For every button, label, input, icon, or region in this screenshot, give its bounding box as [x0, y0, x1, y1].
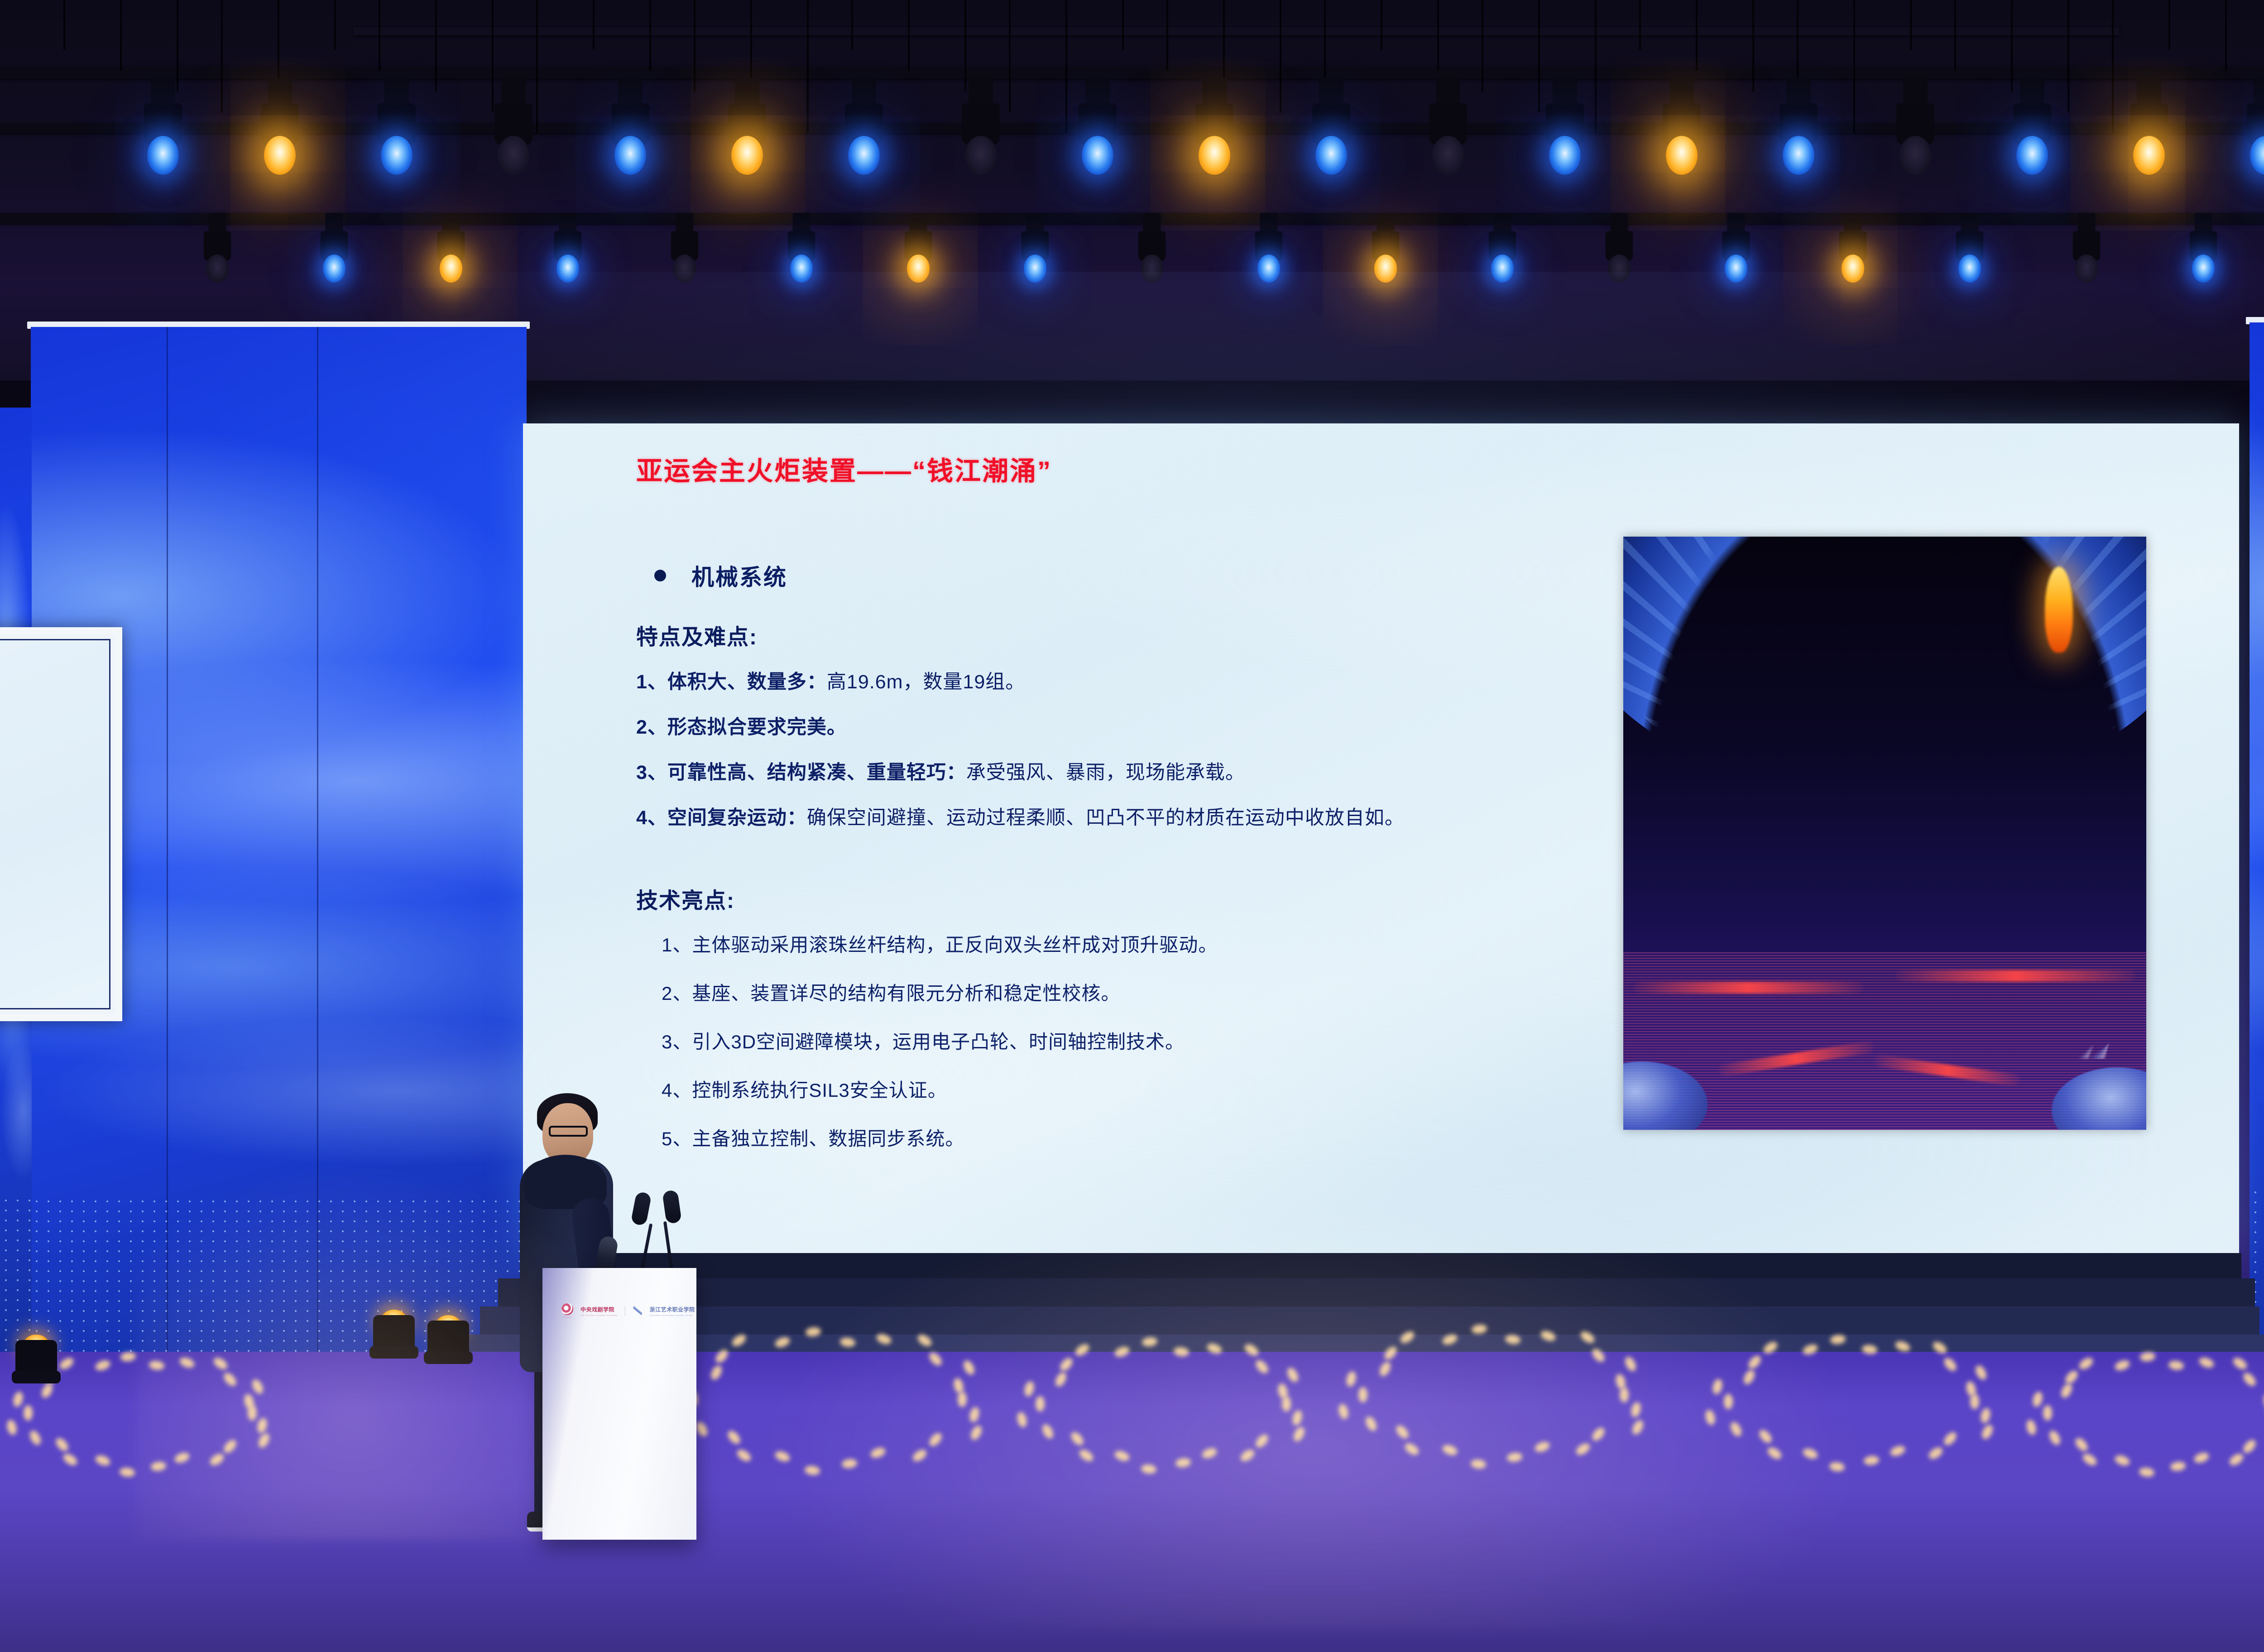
floor-moving-light	[421, 1310, 475, 1364]
feature-item-number: 4、	[636, 807, 667, 829]
slide-bullet-mechanical-system: 机械系统	[654, 559, 1691, 592]
gobo-light-speck	[2043, 1405, 2052, 1421]
floor-moving-light	[9, 1329, 63, 1383]
lamp-lens-icon	[1199, 136, 1230, 175]
slide-text-column: 机械系统 特点及难点: 1、体积大、数量多：高19.6m，数量19组。 2、形态…	[636, 559, 1691, 1172]
led-wall-right	[2250, 322, 2264, 1350]
podium: CAFDRC 中央戏剧学院 THE CENTRAL ACADEMY OF DRA…	[542, 1268, 696, 1540]
slide-highlight-item: 4、控制系统执行SIL3安全认证。	[662, 1075, 1691, 1103]
rigging-cable	[177, 0, 178, 91]
slide-section-spacer	[636, 847, 1691, 883]
rigging-cable	[908, 0, 910, 71]
lamp-lens-icon	[614, 136, 646, 175]
stage-floor	[0, 1352, 2264, 1652]
gobo-light-speck	[24, 1405, 33, 1421]
lamp-lens-icon	[1842, 255, 1864, 283]
main-presentation-screen: 亚运会主火炬装置——“钱江潮涌” 机械系统 特点及难点: 1、体积大、数量多：高…	[523, 423, 2239, 1253]
rigging-cable	[1954, 0, 1956, 71]
feature-item-bold: 形态拟合要求完美。	[667, 716, 847, 738]
floor-moving-light	[367, 1304, 421, 1359]
slide-feature-item: 3、可靠性高、结构紧凑、重量轻巧：承受强风、暴雨，现场能承载。	[636, 757, 1691, 785]
lamp-lens-icon	[1374, 255, 1397, 283]
lamp-lens-icon	[1024, 255, 1046, 283]
feature-item-rest: 高19.6m，数量19组。	[827, 671, 1025, 693]
slide-highlight-item: 3、引入3D空间避障模块，运用电子凸轮、时间轴控制技术。	[662, 1027, 1691, 1054]
rigging-cable	[1280, 0, 1281, 112]
rigging-cable	[1166, 0, 1168, 71]
feature-item-number: 2、	[636, 716, 667, 738]
lamp-lens-icon	[323, 255, 345, 283]
rigging-cable	[1381, 0, 1382, 50]
rigging-cable	[1752, 0, 1754, 91]
lamp-lens-icon	[1257, 255, 1280, 283]
slide-title: 亚运会主火炬装置——“钱江潮涌”	[636, 450, 1052, 488]
rigging-cable	[1482, 0, 1483, 91]
moving-light-base	[12, 1371, 61, 1383]
rigging-cable	[492, 0, 494, 112]
rigging-cable	[379, 0, 380, 71]
rigging-cable	[964, 0, 966, 91]
rigging-cable	[2225, 0, 2227, 71]
rigging-cable	[807, 0, 809, 133]
rigging-cable	[2011, 0, 2013, 91]
rigging-cable	[63, 0, 65, 50]
gobo-light-speck	[1620, 1387, 1629, 1402]
central-academy-subtitle: THE CENTRAL ACADEMY OF DRAMA	[580, 1314, 618, 1316]
lamp-lens-icon	[1666, 136, 1698, 175]
rigging-cable	[1595, 0, 1597, 133]
slide-section-heading-highlights: 技术亮点:	[636, 883, 1691, 914]
lamp-lens-icon	[1315, 136, 1347, 175]
lamp-lens-icon	[206, 255, 229, 283]
secondary-monitor-line: 珠丝杆	[0, 679, 109, 706]
rigging-cable	[221, 0, 223, 112]
rigging-cable	[694, 0, 696, 91]
lamp-lens-icon	[2192, 255, 2215, 283]
moving-light-head	[427, 1321, 469, 1354]
lamp-lens-icon	[147, 136, 179, 175]
lamp-lens-icon	[965, 136, 997, 175]
moving-light-head	[373, 1315, 415, 1349]
secondary-monitor-line: 模块，	[0, 781, 109, 807]
lamp-lens-icon	[498, 136, 529, 175]
feature-item-bold: 体积大、数量多：	[667, 671, 827, 693]
moving-light-base	[369, 1346, 418, 1359]
rigging-cable	[435, 0, 437, 91]
lamp-lens-icon	[2133, 136, 2165, 175]
feature-item-rest: 承受强风、暴雨，现场能承载。	[966, 762, 1245, 783]
rigging-cable	[120, 0, 122, 71]
slide-highlight-item: 2、基座、装置详尽的结构有限元分析和稳定性校核。	[662, 978, 1691, 1006]
slide-highlight-item: 1、主体驱动采用滚珠丝杆结构，正反向双头丝杆成对顶升驱动。	[662, 930, 1691, 957]
slide-highlight-item: 5、主备独立控制、数据同步系统。	[662, 1124, 1691, 1151]
truss-bar-upper	[0, 67, 2264, 79]
slide-feature-item: 1、体积大、数量多：高19.6m，数量19组。	[636, 666, 1691, 694]
gobo-light-speck	[1724, 1394, 1733, 1409]
slide-bullet-label: 机械系统	[691, 559, 787, 592]
zhejiang-academy-logo-icon	[631, 1305, 644, 1317]
stage-riser-lower-step	[480, 1306, 2259, 1335]
rigging-cable	[1910, 0, 1912, 50]
feature-item-bold: 空间复杂运动：	[667, 807, 807, 829]
lamp-lens-icon	[1082, 136, 1113, 175]
rigging-cable	[2168, 0, 2170, 50]
rigging-cable	[2112, 0, 2114, 133]
secondary-monitor-line: L3安全	[0, 831, 109, 858]
lamp-lens-icon	[556, 255, 579, 283]
zhejiang-academy-name: 浙江艺术职业学院	[650, 1306, 695, 1313]
secondary-monitor-line: 数据同	[0, 882, 109, 908]
lamp-lens-icon	[1958, 255, 1981, 283]
stage-scene: 珠丝杆 的结构 模块， L3安全 数据同 亚运会主火炬装置——“钱江潮涌” 机械…	[0, 0, 2264, 1652]
feature-item-number: 1、	[636, 671, 667, 693]
rigging-cable	[334, 0, 336, 50]
rigging-cable	[851, 0, 853, 50]
slide-feature-item: 4、空间复杂运动：确保空间避撞、运动过程柔顺、凹凸不平的材质在运动中收放自如。	[636, 802, 1691, 830]
gobo-light-speck	[1358, 1387, 1367, 1402]
gobo-light-speck	[1036, 1396, 1045, 1412]
podium-logo-group: CAFDRC 中央戏剧学院 THE CENTRAL ACADEMY OF DRA…	[561, 1303, 695, 1318]
lamp-lens-icon	[1549, 136, 1581, 175]
lamp-lens-icon	[1491, 255, 1514, 283]
secondary-monitor-line: 的结构	[0, 730, 109, 756]
rigging-cable	[593, 0, 595, 50]
rigging-cable	[1538, 0, 1540, 112]
lamp-lens-icon	[440, 255, 462, 283]
feature-item-number: 3、	[636, 762, 667, 783]
central-academy-abbr: CAFDRC	[563, 1316, 571, 1318]
feature-item-rest: 确保空间避撞、运动过程柔顺、凹凸不平的材质在运动中收放自如。	[807, 807, 1405, 829]
lamp-lens-icon	[848, 136, 880, 175]
lamp-lens-icon	[1783, 136, 1814, 175]
slide-feature-item: 2、形态拟合要求完美。	[636, 711, 1691, 740]
rigging-cable	[649, 0, 651, 71]
rigging-cable	[1639, 0, 1641, 50]
feature-item-bold: 可靠性高、结构紧凑、重量轻巧：	[667, 762, 966, 783]
rigging-cable	[1696, 0, 1698, 71]
slide-content: 亚运会主火炬装置——“钱江潮涌” 机械系统 特点及难点: 1、体积大、数量多：高…	[523, 423, 2239, 1253]
rigging-cable	[1437, 0, 1439, 71]
zhejiang-academy-subtitle: ZHEJIANG VOCATIONAL ACADEMY OF ART	[650, 1314, 695, 1316]
lamp-lens-icon	[731, 136, 763, 175]
lamp-lens-icon	[1432, 136, 1464, 175]
lamp-lens-icon	[2016, 136, 2048, 175]
secondary-monitor: 珠丝杆 的结构 模块， L3安全 数据同	[0, 627, 122, 1021]
rigging-cable	[1065, 0, 1067, 133]
moving-light-base	[424, 1351, 473, 1364]
central-academy-logo-icon	[561, 1303, 573, 1315]
lamp-lens-icon	[907, 255, 930, 283]
rigging-cable	[2067, 0, 2069, 112]
logo-divider	[625, 1306, 625, 1316]
slide-section-heading-features: 特点及难点:	[636, 619, 1691, 651]
bullet-dot-icon	[654, 570, 666, 581]
stage-riser-upper-step	[498, 1278, 2255, 1306]
lamp-lens-icon	[381, 136, 413, 175]
rigging-cable	[1853, 0, 1855, 133]
lamp-lens-icon	[790, 255, 813, 283]
lamp-lens-icon	[1608, 255, 1631, 283]
lamp-lens-icon	[673, 255, 696, 283]
central-academy-name: 中央戏剧学院	[580, 1306, 618, 1313]
lamp-lens-icon	[264, 136, 296, 175]
gobo-light-speck	[958, 1392, 967, 1407]
secondary-monitor-content: 珠丝杆 的结构 模块， L3安全 数据同	[0, 639, 110, 1009]
lamp-lens-icon	[1725, 255, 1747, 283]
lamp-lens-icon	[1899, 136, 1931, 175]
photo-cauldron-flame	[2045, 567, 2073, 653]
stage-riser-back	[521, 1253, 2241, 1278]
rigging-cable	[536, 0, 538, 133]
rigging-cable	[1009, 0, 1011, 112]
moving-light-head	[15, 1340, 57, 1373]
slide-cauldron-photo	[1623, 537, 2146, 1130]
lamp-lens-icon	[1141, 255, 1163, 283]
photo-performer-line	[1895, 970, 2136, 982]
rigging-cable	[1122, 0, 1124, 50]
lamp-lens-icon	[2075, 255, 2098, 283]
photo-performer-line	[1634, 982, 1864, 994]
